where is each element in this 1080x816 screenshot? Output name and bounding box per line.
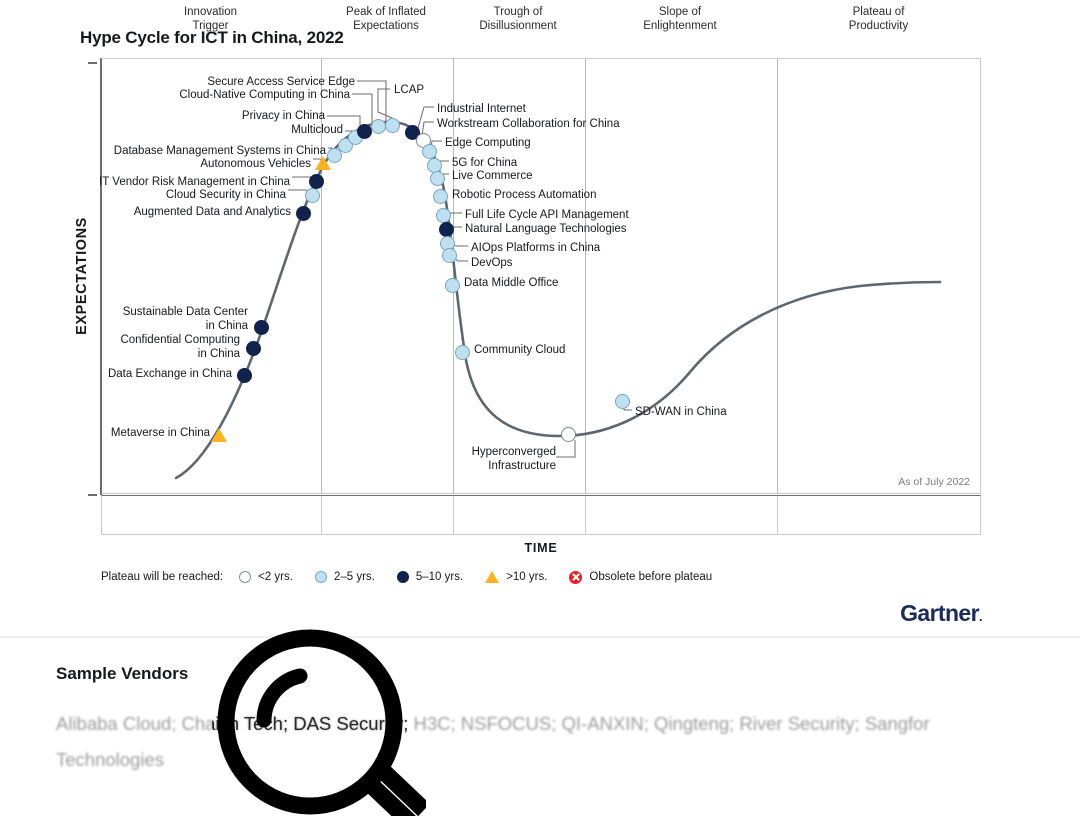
label-workstream-collaboration-for-china: Workstream Collaboration for China [437,118,620,132]
phase-label-trough-of-disillusionment: Trough of Disillusionment [452,5,584,33]
label-edge-computing: Edge Computing [445,137,531,151]
gartner-logo-tm: . [979,609,982,624]
phase-band [101,495,981,535]
open-circle-icon [239,571,251,583]
legend-item-lt2yrs[interactable]: <2 yrs. [239,571,293,583]
light-blue-circle-icon [315,571,327,583]
gartner-logo-text: Gartner [900,600,979,626]
label-autonomous-vehicles: Autonomous Vehicles [0,158,311,172]
gartner-logo: Gartner. [900,600,982,627]
phase-separator-3 [585,496,586,534]
magnified-sample-vendors-list: Alibaba Cloud; Chaitin Tech; DAS Securit… [212,706,408,778]
label-full-life-cycle-api-management: Full Life Cycle API Management [465,209,629,223]
label-cloud-native-computing-in-china: Cloud-Native Computing in China [0,89,350,103]
yellow-triangle-icon [485,571,499,583]
label-hyperconverged-infrastructure: Hyperconverged Infrastructure [380,446,556,473]
legend-item-gt10yrs[interactable]: >10 yrs. [485,571,547,583]
legend-label-lt2yrs: <2 yrs. [258,571,293,583]
legend-label-5to10yrs: 5–10 yrs. [416,571,463,583]
label-confidential-computing-in-china: Confidential Computing in China [0,334,240,361]
label-sd-wan-in-china: SD-WAN in China [635,406,727,420]
label-live-commerce: Live Commerce [452,170,533,184]
phase-label-innovation-trigger: Innovation Trigger [101,5,320,33]
navy-circle-icon [397,571,409,583]
label-natural-language-technologies: Natural Language Technologies [465,223,627,237]
label-augmented-data-and-analytics: Augmented Data and Analytics [0,206,291,220]
legend-label-2to5yrs: 2–5 yrs. [334,571,375,583]
label-community-cloud: Community Cloud [474,344,565,358]
phase-separator-2 [453,496,454,534]
phase-separator-4 [777,496,778,534]
hype-cycle-chart-card: Hype Cycle for ICT in China, 2022 EXPECT… [0,0,1080,636]
label-industrial-internet: Industrial Internet [437,103,526,117]
label-devops: DevOps [471,257,513,271]
legend-label-obsolete: Obsolete before plateau [589,571,712,583]
label-5g-for-china: 5G for China [452,157,517,171]
label-data-exchange-in-china: Data Exchange in China [0,368,232,382]
label-multicloud: Multicloud [0,124,343,138]
label-it-vendor-risk-management-in-china: IT Vendor Risk Management in China [0,176,290,190]
legend-lead-text: Plateau will be reached: [101,571,223,583]
label-privacy-in-china: Privacy in China [0,110,325,124]
label-metaverse-in-china: Metaverse in China [0,427,210,441]
legend-item-2to5yrs[interactable]: 2–5 yrs. [315,571,375,583]
magnifier-lens-content: Sample Vendors Alibaba Cloud; Chaitin Te… [212,638,408,808]
label-secure-access-service-edge: Secure Access Service Edge [0,76,355,90]
label-sustainable-data-center-in-china: Sustainable Data Center in China [0,306,248,333]
label-cloud-security-in-china: Cloud Security in China [0,189,286,203]
magnifier-lens: Sample Vendors Alibaba Cloud; Chaitin Te… [212,638,408,808]
label-data-middle-office: Data Middle Office [464,277,558,291]
legend-item-obsolete[interactable]: Obsolete before plateau [569,571,712,584]
obsolete-icon [569,571,582,584]
phase-separator-1 [321,496,322,534]
phase-label-plateau-of-productivity: Plateau of Productivity [776,5,981,33]
label-robotic-process-automation: Robotic Process Automation [452,189,596,203]
label-lcap: LCAP [394,84,424,98]
legend: Plateau will be reached: <2 yrs. 2–5 yrs… [101,566,734,588]
label-database-management-systems-in-china: Database Management Systems in China [0,145,326,159]
magnifier-lens-clip: Sample Vendors Alibaba Cloud; Chaitin Te… [0,638,1080,808]
phase-label-peak-of-inflated-expectations: Peak of Inflated Expectations [320,5,452,33]
label-aiops-platforms-in-china: AIOps Platforms in China [471,242,600,256]
legend-item-5to10yrs[interactable]: 5–10 yrs. [397,571,463,583]
phase-label-slope-of-enlightenment: Slope of Enlightenment [584,5,776,33]
x-axis-label: TIME [101,541,981,555]
legend-label-gt10yrs: >10 yrs. [506,571,547,583]
